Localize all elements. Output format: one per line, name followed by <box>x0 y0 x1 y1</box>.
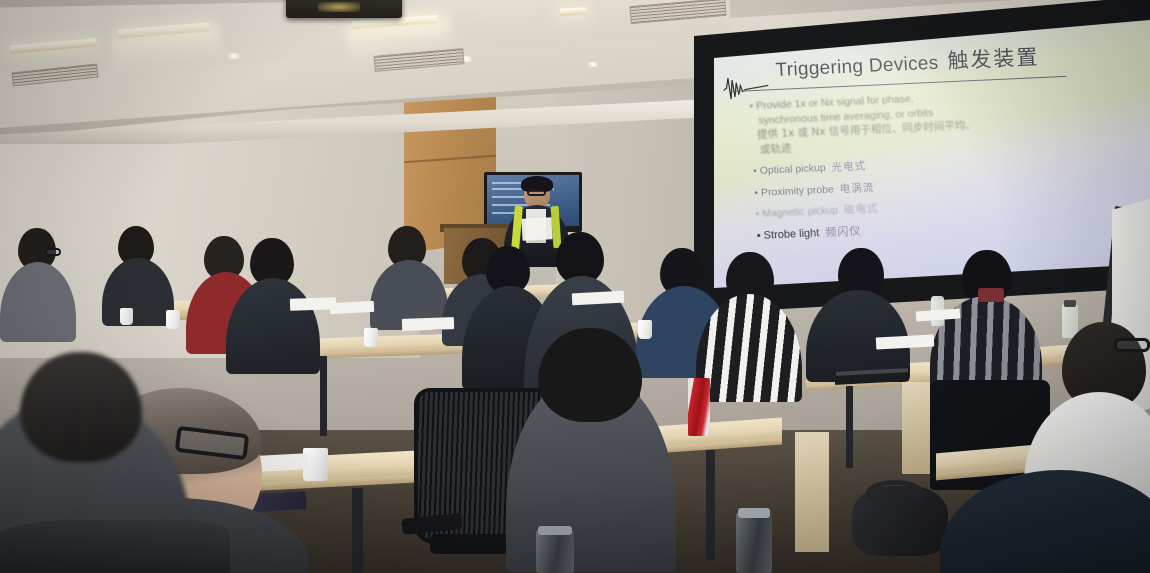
thermos-cap <box>538 526 572 535</box>
handout-papers <box>330 301 375 314</box>
paper-coffee-cup <box>638 320 652 339</box>
vacuum-thermos <box>536 530 574 573</box>
classroom-photo-scene: Triggering Devices触发装置 • Provide 1x or N… <box>0 0 1150 573</box>
paper-coffee-cup <box>166 310 180 329</box>
bottle-cap <box>1064 300 1076 307</box>
desk-leg <box>320 356 327 436</box>
vacuum-thermos <box>736 512 772 573</box>
slide-bullet: • Strobe light频闪仪 <box>756 215 1086 242</box>
presentation-slide: Triggering Devices触发装置 • Provide 1x or N… <box>710 26 1123 280</box>
desk-leg <box>352 488 363 573</box>
projector-lens-glow <box>318 2 360 12</box>
foreground-attendee-head <box>538 328 642 422</box>
slide-title-cn: 触发装置 <box>947 45 1040 73</box>
paper-coffee-cup <box>364 328 378 347</box>
presenter-handout <box>521 217 552 241</box>
slide-title: Triggering Devices触发装置 <box>775 41 1041 83</box>
desk-modesty-panel <box>902 382 930 474</box>
monitor-text-line <box>492 196 528 198</box>
desk-modesty-panel <box>795 432 829 552</box>
foreground-attendee-head <box>20 352 142 462</box>
slide-bullet-list: • Provide 1x or Nx signal for phase, syn… <box>749 85 1087 244</box>
foreground-occluder <box>0 520 230 573</box>
handout-papers <box>402 317 454 331</box>
paper-coffee-cup <box>120 308 133 325</box>
downlight-spot-3 <box>586 62 600 67</box>
thermos-cap <box>738 508 770 518</box>
attendee-glasses <box>45 248 61 256</box>
desk-leg <box>846 386 853 468</box>
attendee-collar <box>978 288 1004 302</box>
backpack-strap <box>866 480 924 506</box>
recessed-light-4 <box>560 7 586 15</box>
downlight-spot-1 <box>225 53 243 59</box>
slide-title-en: Triggering Devices <box>775 53 939 81</box>
soda-can <box>688 378 710 436</box>
presenter-glasses <box>527 189 546 196</box>
desk-leg <box>706 450 715 560</box>
foreground-attendee-glasses <box>1114 338 1150 352</box>
